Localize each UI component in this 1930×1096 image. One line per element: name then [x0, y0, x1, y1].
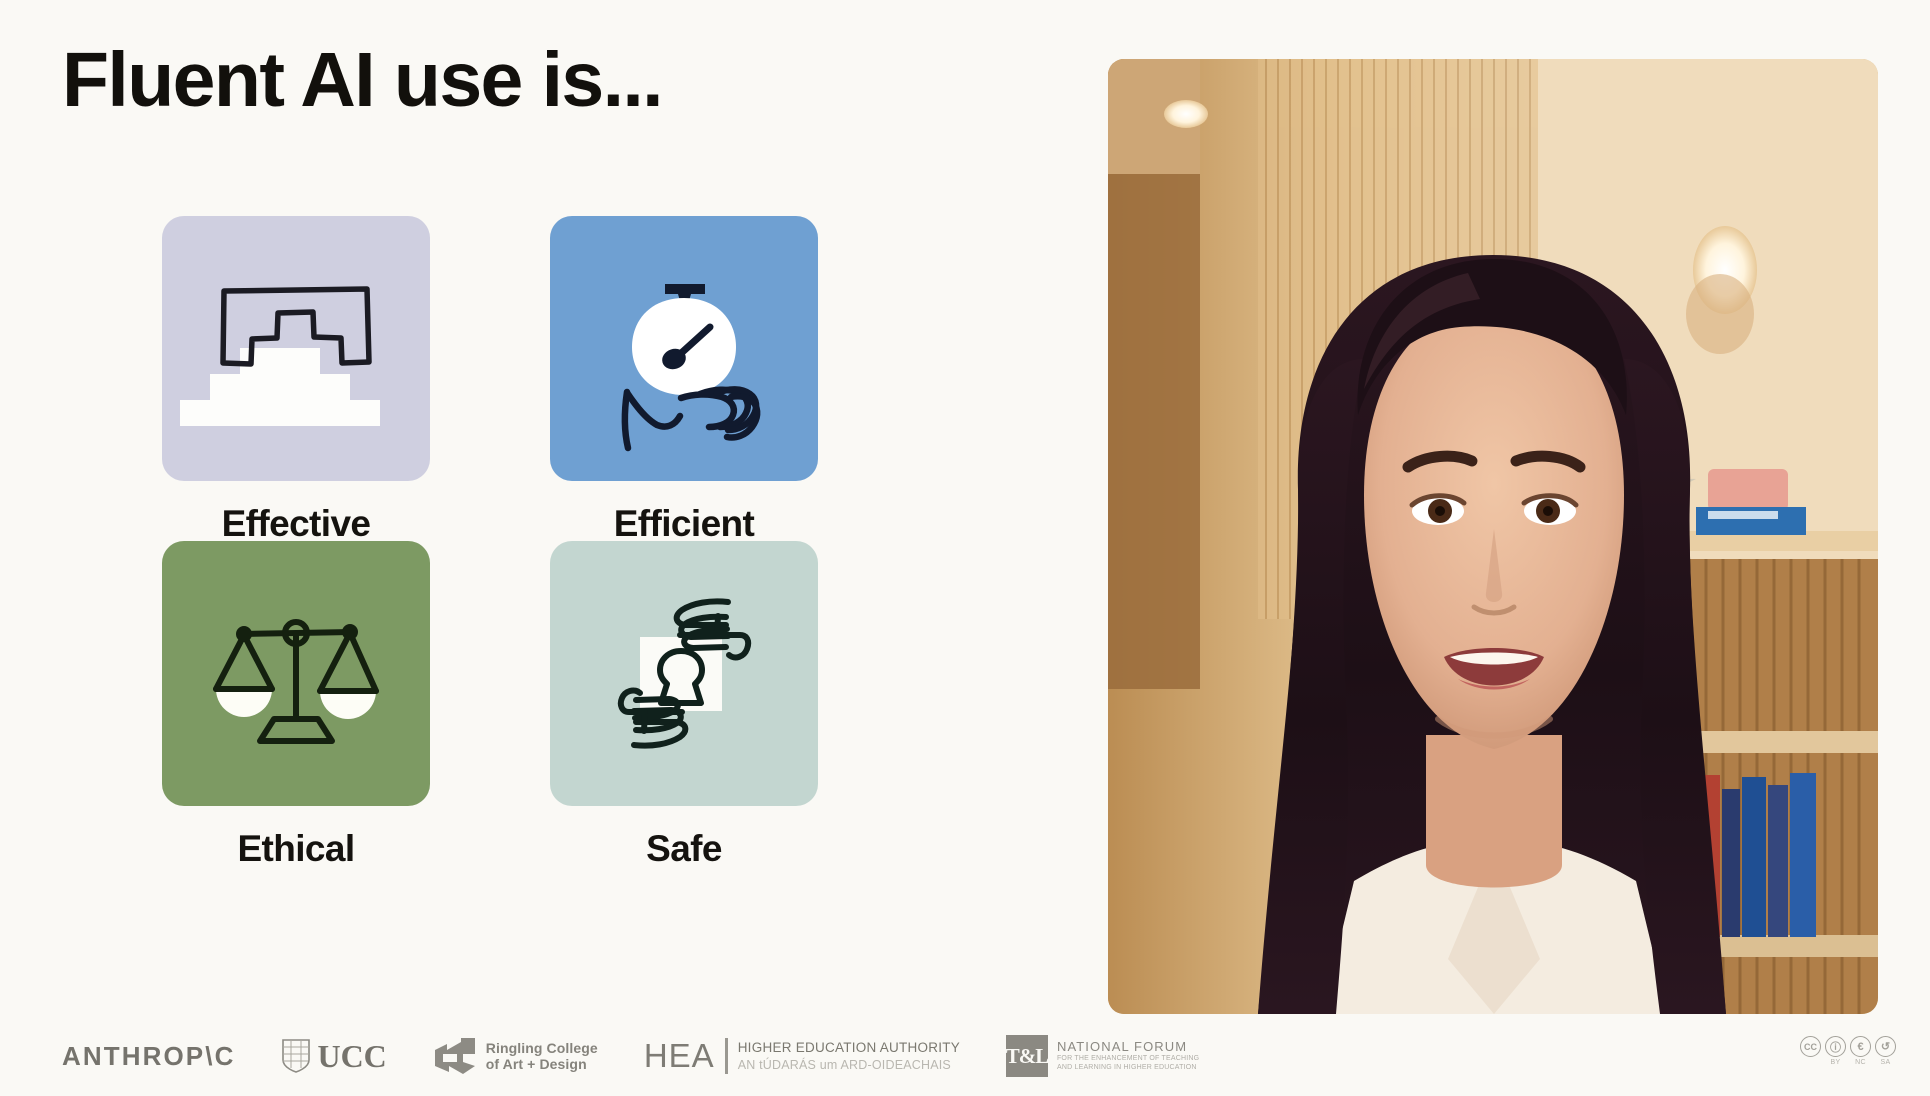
pillar-tile-efficient [550, 216, 818, 481]
hea-wordmark: HEA [644, 1037, 715, 1075]
national-forum-text: NATIONAL FORUM FOR THE ENHANCEMENT OF TE… [1057, 1039, 1199, 1073]
pillar-tile-safe [550, 541, 818, 806]
national-forum-logo: T&L NATIONAL FORUM FOR THE ENHANCEMENT O… [1006, 1032, 1199, 1080]
cc-sub-label: BY [1831, 1059, 1841, 1066]
ringling-line-2: of Art + Design [486, 1056, 598, 1072]
cc-by-icon: ⓘ [1825, 1036, 1846, 1057]
cc-mark-by: ⓘ BY [1825, 1036, 1846, 1066]
ringling-logo: Ringling College of Art + Design [433, 1032, 598, 1080]
balance-scales-icon [162, 541, 430, 806]
presentation-slide: Fluent AI use is... Effective [0, 0, 1930, 1096]
national-forum-line-2: FOR THE ENHANCEMENT OF TEACHING [1057, 1055, 1199, 1064]
pillar-effective[interactable]: Effective [162, 216, 430, 541]
stopwatch-hand-icon [550, 216, 818, 481]
slide-footer: ANTHROP\C UCC Ringl [0, 1016, 1930, 1096]
pillar-grid: Effective [162, 216, 818, 866]
pillar-tile-effective [162, 216, 430, 481]
pillar-label: Safe [550, 828, 818, 870]
ucc-logo: UCC [281, 1032, 386, 1080]
page-title: Fluent AI use is... [62, 40, 662, 121]
anthropic-wordmark: ANTHROP\C [62, 1041, 235, 1072]
hea-logo: HEA HIGHER EDUCATION AUTHORITY AN tÚDARÁ… [644, 1032, 960, 1080]
partner-logo-row: ANTHROP\C UCC Ringl [62, 1032, 1199, 1080]
national-forum-monogram: T&L [1006, 1044, 1049, 1069]
hea-line-1: HIGHER EDUCATION AUTHORITY [738, 1039, 960, 1057]
pillar-tile-ethical [162, 541, 430, 806]
pillar-safe[interactable]: Safe [550, 541, 818, 866]
speaker-video-feed[interactable] [1108, 59, 1878, 1014]
cc-sa-icon: ↺ [1875, 1036, 1896, 1057]
pillar-ethical[interactable]: Ethical [162, 541, 430, 866]
cc-sub-label: NC [1855, 1059, 1866, 1066]
cc-sub-label: SA [1881, 1059, 1891, 1066]
national-forum-mark: T&L [1006, 1035, 1048, 1077]
pillar-label: Efficient [550, 503, 818, 545]
pillar-label: Ethical [162, 828, 430, 870]
video-frame-image [1108, 59, 1878, 1014]
pillar-label: Effective [162, 503, 430, 545]
cc-nc-icon: € [1850, 1036, 1871, 1057]
anthropic-logo: ANTHROP\C [62, 1032, 235, 1080]
hea-text: HIGHER EDUCATION AUTHORITY AN tÚDARÁS um… [738, 1039, 960, 1073]
ucc-wordmark: UCC [317, 1038, 386, 1075]
cc-mark-sa: ↺ SA [1875, 1036, 1896, 1066]
ringling-line-1: Ringling College [486, 1040, 598, 1056]
pillar-efficient[interactable]: Efficient [550, 216, 818, 541]
national-forum-line-1: NATIONAL FORUM [1057, 1039, 1199, 1055]
ucc-crest-icon [281, 1038, 311, 1074]
stepped-mold-icon [162, 216, 430, 481]
slide-content-pane: Fluent AI use is... Effective [0, 0, 1100, 1020]
hea-divider [725, 1038, 728, 1074]
ringling-mark-icon [433, 1036, 477, 1076]
cc-mark-nc: € NC [1850, 1036, 1871, 1066]
national-forum-line-3: AND LEARNING IN HIGHER EDUCATION [1057, 1064, 1199, 1073]
creative-commons-badge[interactable]: CC ⓘ BY € NC ↺ SA [1800, 1036, 1896, 1066]
cc-icon: CC [1800, 1036, 1821, 1057]
hea-line-2: AN tÚDARÁS um ARD-OIDEACHAIS [738, 1057, 960, 1073]
hands-keyhole-icon [550, 541, 818, 806]
ringling-text: Ringling College of Art + Design [486, 1040, 598, 1072]
cc-mark-cc: CC [1800, 1036, 1821, 1059]
